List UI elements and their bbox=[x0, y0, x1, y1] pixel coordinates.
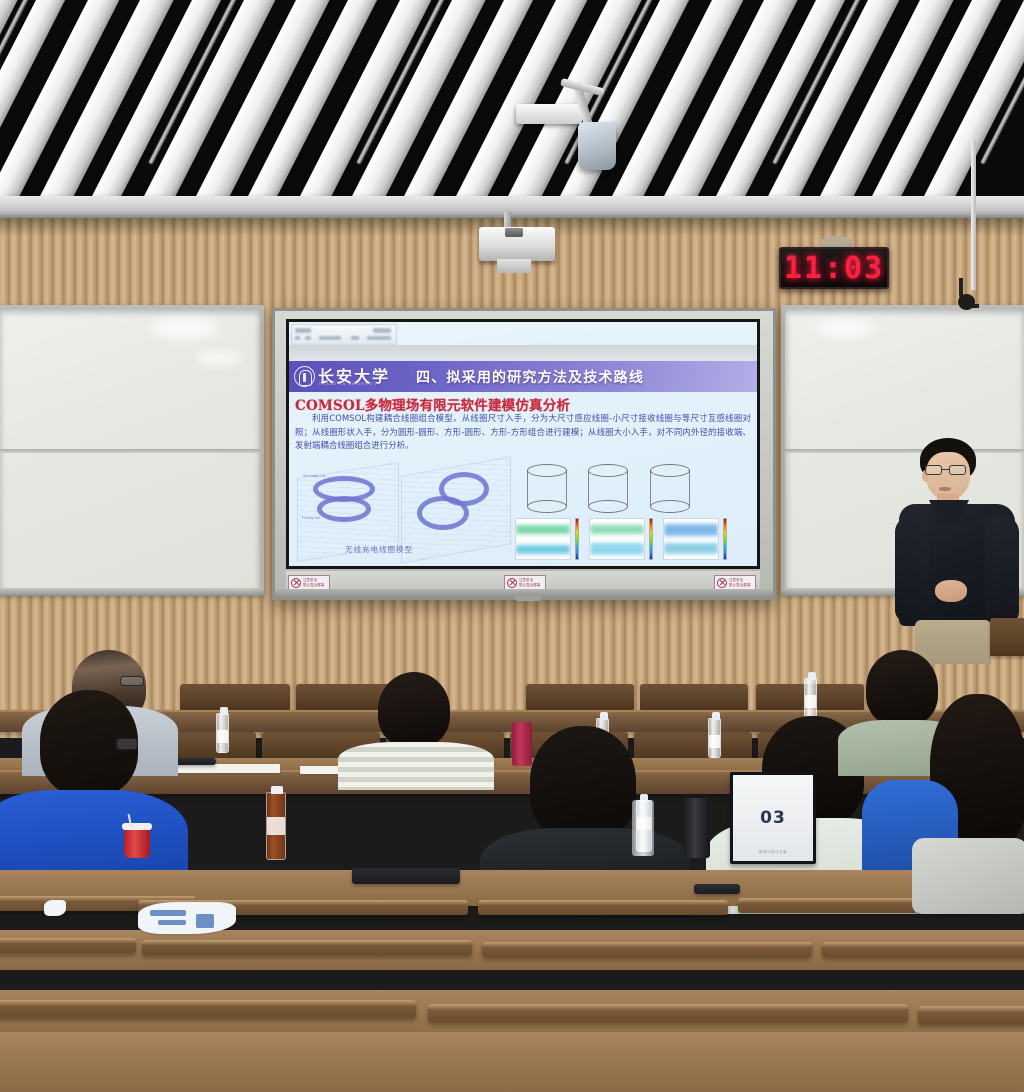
laptop-screen[interactable]: 03 研究内容与方案 bbox=[730, 772, 816, 864]
papers bbox=[160, 764, 280, 773]
slide-content: 长安大学 CHANG AN UNIVERSITY 四、拟采用的研究方法及技术路线… bbox=[289, 322, 757, 566]
presenter-mouth bbox=[939, 487, 951, 491]
desk-edge-front-2c bbox=[482, 942, 812, 957]
slide-top-band bbox=[289, 345, 757, 361]
desk-edge-front-3a bbox=[0, 1000, 416, 1018]
tablet bbox=[172, 758, 216, 765]
snack-wrapper bbox=[138, 902, 236, 934]
seat-back bbox=[634, 732, 752, 760]
warning-label-text: 注意安全 禁止靠近屏幕 bbox=[729, 578, 751, 587]
desk-edge-front-3c bbox=[918, 1006, 1024, 1024]
powerpoint-toolbar[interactable] bbox=[291, 324, 397, 345]
university-seal-icon bbox=[294, 366, 315, 387]
clear-bottle bbox=[632, 800, 654, 856]
hanging-knob bbox=[958, 294, 975, 310]
figure-caption: 无线充电线圈模型 bbox=[345, 544, 413, 555]
laptop-slide-subtitle: 研究内容与方案 bbox=[733, 850, 813, 855]
coil-schematic-1 bbox=[521, 462, 573, 516]
figure-axis-label-primary: Primary coil bbox=[302, 516, 320, 520]
black-thermos bbox=[684, 798, 710, 858]
coil-schematic-3 bbox=[644, 462, 696, 516]
red-paper-cup bbox=[124, 828, 150, 858]
audience-man-green-shirt bbox=[866, 650, 938, 726]
seat-back-aisle bbox=[990, 618, 1024, 656]
figure-axis-label-secondary: Secondary coil bbox=[303, 474, 325, 478]
warning-label-left: 注意安全 禁止靠近屏幕 bbox=[288, 575, 330, 590]
audience-man-black-tee bbox=[530, 726, 636, 840]
projector-lens bbox=[505, 228, 523, 237]
wall-camera bbox=[578, 122, 616, 170]
desk-edge-front-2a bbox=[0, 938, 136, 953]
comsol-colorbar-2 bbox=[649, 518, 653, 560]
tablet bbox=[352, 868, 460, 884]
clock-brand-label: LED bbox=[787, 253, 796, 258]
desk-edge-front-3b bbox=[428, 1004, 908, 1022]
slide-paragraph: 利用COMSOL构建耦合线圈组合模型。从线圈尺寸入手，分为大尺寸感应线圈-小尺寸… bbox=[295, 412, 751, 453]
presenter-left-arm bbox=[895, 516, 929, 622]
audience-shoulders-striped bbox=[338, 742, 494, 790]
warning-label-text: 注意安全 禁止靠近屏幕 bbox=[303, 578, 325, 587]
laptop-slide-number: 03 bbox=[760, 808, 786, 828]
glasses-icon bbox=[116, 738, 138, 750]
desk-surface-front-4 bbox=[0, 1032, 1024, 1092]
seat-back bbox=[180, 684, 290, 710]
desk-edge-front-2d bbox=[822, 942, 1024, 957]
desk-edge-front-1c bbox=[478, 900, 728, 915]
slide-heading: COMSOL多物理场有限元软件建模仿真分析 bbox=[295, 394, 570, 414]
presenter-right-arm bbox=[985, 516, 1019, 624]
iced-tea-bottle bbox=[266, 792, 286, 860]
coil-ring-lower-right bbox=[417, 496, 469, 530]
whiteboard-left bbox=[0, 305, 264, 595]
seat-back bbox=[526, 684, 634, 710]
seat-back bbox=[640, 684, 748, 710]
no-touch-icon bbox=[717, 578, 727, 588]
university-name-en: CHANG AN UNIVERSITY bbox=[319, 382, 381, 386]
tissue bbox=[44, 900, 66, 916]
audience-woman-striped-top bbox=[378, 672, 450, 748]
warning-label-text: 注意安全 禁止靠近屏幕 bbox=[519, 578, 541, 587]
water-bottle bbox=[216, 713, 229, 753]
slide-section-title: 四、拟采用的研究方法及技术路线 bbox=[416, 367, 644, 387]
lecture-hall-photo: LED 11:03 bbox=[0, 0, 1024, 1092]
warning-label-right: 注意安全 禁止靠近屏幕 bbox=[714, 575, 756, 590]
comsol-field-plot-1 bbox=[515, 518, 571, 560]
slide-body: COMSOL多物理场有限元软件建模仿真分析 利用COMSOL构建耦合线圈组合模型… bbox=[289, 392, 757, 566]
comsol-field-plot-2 bbox=[589, 518, 645, 560]
warning-label-center: 注意安全 禁止靠近屏幕 bbox=[504, 575, 546, 590]
display-panel: 长安大学 CHANG AN UNIVERSITY 四、拟采用的研究方法及技术路线… bbox=[286, 319, 760, 569]
display-center-nub bbox=[515, 596, 541, 601]
whiteboard-left-tray bbox=[0, 588, 264, 596]
desk-edge-front-2b bbox=[142, 940, 472, 955]
coil-ring-lower-left bbox=[317, 496, 371, 522]
presenter-hands bbox=[935, 580, 967, 602]
water-bottle bbox=[804, 678, 817, 718]
presenter-trousers bbox=[915, 620, 991, 664]
backpack bbox=[912, 838, 1024, 914]
presenter-face bbox=[926, 452, 970, 500]
tablet bbox=[694, 884, 740, 894]
comsol-field-plot-3 bbox=[663, 518, 719, 560]
presentation-display[interactable]: 长安大学 CHANG AN UNIVERSITY 四、拟采用的研究方法及技术路线… bbox=[272, 308, 776, 600]
water-bottle bbox=[708, 718, 721, 758]
pink-thermos bbox=[512, 722, 532, 766]
clock-time-readout: 11:03 bbox=[784, 251, 884, 286]
hanging-pole bbox=[971, 140, 976, 290]
ceiling-speaker bbox=[516, 104, 582, 124]
coil-schematic-2 bbox=[582, 462, 634, 516]
slide-header-bar: 长安大学 CHANG AN UNIVERSITY 四、拟采用的研究方法及技术路线 bbox=[289, 361, 757, 392]
glasses-icon bbox=[120, 676, 144, 686]
wall-led-clock: LED 11:03 bbox=[779, 247, 889, 289]
comsol-colorbar-1 bbox=[575, 518, 579, 560]
no-touch-icon bbox=[291, 578, 301, 588]
comsol-colorbar-3 bbox=[723, 518, 727, 560]
glasses-icon bbox=[923, 465, 970, 476]
no-touch-icon bbox=[507, 578, 517, 588]
